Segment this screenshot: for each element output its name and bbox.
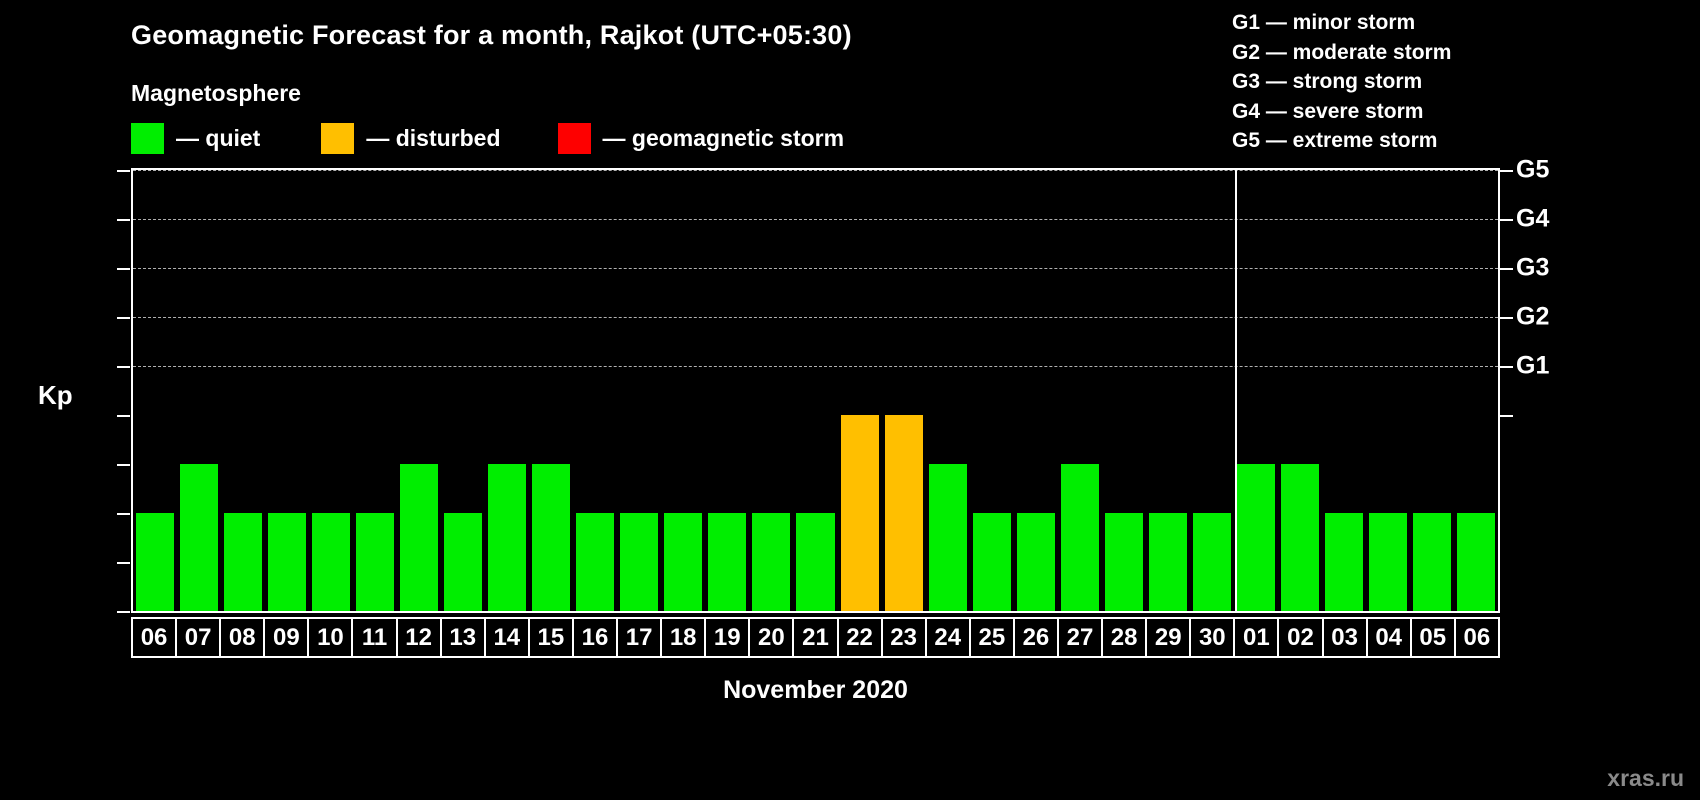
x-axis-date-label[interactable]: 26 (1015, 619, 1059, 656)
bar-cell[interactable] (793, 170, 837, 611)
bar[interactable] (1105, 513, 1143, 611)
y-axis-tick (117, 415, 130, 417)
bar-cell[interactable] (1278, 170, 1322, 611)
y-axis-tick (117, 611, 130, 613)
bar-cell[interactable] (1322, 170, 1366, 611)
bar-cell[interactable] (1014, 170, 1058, 611)
x-axis-date-label[interactable]: 01 (1235, 619, 1279, 656)
legend-label-disturbed: — disturbed (366, 125, 500, 152)
x-axis-date-label[interactable]: 08 (221, 619, 265, 656)
bar-cell[interactable] (1366, 170, 1410, 611)
bar[interactable] (576, 513, 614, 611)
x-axis-date-label[interactable]: 23 (883, 619, 927, 656)
bar[interactable] (180, 464, 218, 611)
bar[interactable] (973, 513, 1011, 611)
bar-cell[interactable] (397, 170, 441, 611)
legend: — quiet — disturbed — geomagnetic storm (131, 123, 844, 154)
bar-cell[interactable] (441, 170, 485, 611)
x-axis-date-row: 0607080910111213141516171819202122232425… (131, 617, 1500, 658)
g-scale-axis-tick (1500, 317, 1513, 319)
x-axis-date-label[interactable]: 12 (398, 619, 442, 656)
bar[interactable] (1237, 464, 1275, 611)
page-title: Geomagnetic Forecast for a month, Rajkot… (131, 20, 852, 51)
x-axis-date-label[interactable]: 04 (1368, 619, 1412, 656)
g-scale-axis-tick (1500, 170, 1513, 172)
x-axis-date-label[interactable]: 11 (353, 619, 397, 656)
bar[interactable] (841, 415, 879, 611)
g-scale-axis-tick (1500, 366, 1513, 368)
x-axis-date-label[interactable]: 13 (442, 619, 486, 656)
g-scale-row: G4 — severe storm (1232, 97, 1451, 127)
bar[interactable] (1061, 464, 1099, 611)
x-axis-date-label[interactable]: 03 (1324, 619, 1368, 656)
bar-cell[interactable] (485, 170, 529, 611)
x-axis-date-label[interactable]: 18 (662, 619, 706, 656)
x-axis-date-label[interactable]: 19 (706, 619, 750, 656)
y-axis-tick (117, 170, 130, 172)
bar[interactable] (1193, 513, 1231, 611)
x-axis-date-label[interactable]: 28 (1103, 619, 1147, 656)
bar-series (133, 170, 1498, 611)
bar[interactable] (268, 513, 306, 611)
bar[interactable] (1149, 513, 1187, 611)
g-scale-row: G1 — minor storm (1232, 8, 1451, 38)
bar[interactable] (796, 513, 834, 611)
bar[interactable] (1457, 513, 1495, 611)
y-axis-tick (117, 268, 130, 270)
y-axis-tick (117, 366, 130, 368)
month-divider-line (1235, 168, 1237, 613)
bar-cell[interactable] (529, 170, 573, 611)
legend-label-storm: — geomagnetic storm (603, 125, 845, 152)
x-axis-date-label[interactable]: 14 (486, 619, 530, 656)
bar-cell[interactable] (133, 170, 177, 611)
bar[interactable] (1413, 513, 1451, 611)
bar-cell[interactable] (661, 170, 705, 611)
x-axis-date-label[interactable]: 24 (927, 619, 971, 656)
legend-swatch-storm-icon (558, 123, 591, 154)
watermark: xras.ru (1607, 765, 1684, 792)
bar[interactable] (620, 513, 658, 611)
g-scale-axis-tick (1500, 219, 1513, 221)
bar[interactable] (136, 513, 174, 611)
x-axis-date-label[interactable]: 07 (177, 619, 221, 656)
g-scale-axis-tick (1500, 415, 1513, 417)
bar-cell[interactable] (1146, 170, 1190, 611)
legend-swatch-quiet-icon (131, 123, 164, 154)
x-axis-date-label[interactable]: 09 (265, 619, 309, 656)
g-scale-row: G2 — moderate storm (1232, 38, 1451, 68)
bar-cell[interactable] (1454, 170, 1498, 611)
bar-cell[interactable] (926, 170, 970, 611)
legend-item-storm: — geomagnetic storm (558, 123, 845, 154)
x-axis-date-label[interactable]: 16 (574, 619, 618, 656)
bar-cell[interactable] (970, 170, 1014, 611)
bar-cell[interactable] (838, 170, 882, 611)
x-axis-date-label[interactable]: 02 (1279, 619, 1323, 656)
bar[interactable] (488, 464, 526, 611)
bar[interactable] (708, 513, 746, 611)
bar[interactable] (1325, 513, 1363, 611)
x-axis-date-label[interactable]: 17 (618, 619, 662, 656)
x-axis-date-label[interactable]: 25 (971, 619, 1015, 656)
bar[interactable] (885, 415, 923, 611)
g-scale-axis-label: G3 (1516, 254, 1549, 283)
x-axis-date-label[interactable]: 05 (1412, 619, 1456, 656)
bar[interactable] (1017, 513, 1055, 611)
x-axis-title: November 2020 (131, 676, 1500, 705)
bar[interactable] (312, 513, 350, 611)
bar-cell[interactable] (265, 170, 309, 611)
bar[interactable] (1281, 464, 1319, 611)
legend-swatch-disturbed-icon (321, 123, 354, 154)
y-axis-tick (117, 317, 130, 319)
bar[interactable] (929, 464, 967, 611)
g-scale-axis-label: G1 (1516, 352, 1549, 381)
bar-cell[interactable] (617, 170, 661, 611)
bar[interactable] (532, 464, 570, 611)
bar-cell[interactable] (177, 170, 221, 611)
bar-cell[interactable] (221, 170, 265, 611)
x-axis-date-label[interactable]: 06 (1456, 619, 1498, 656)
bar-cell[interactable] (353, 170, 397, 611)
magnetosphere-label: Magnetosphere (131, 80, 301, 107)
x-axis-date-label[interactable]: 15 (530, 619, 574, 656)
g-scale-axis-tick (1500, 268, 1513, 270)
bar-cell[interactable] (1190, 170, 1234, 611)
legend-item-disturbed: — disturbed (321, 123, 500, 154)
g-scale-axis-label: G4 (1516, 205, 1549, 234)
x-axis-date-label[interactable]: 06 (133, 619, 177, 656)
g-scale-legend: G1 — minor storm G2 — moderate storm G3 … (1232, 8, 1451, 156)
x-axis-date-label[interactable]: 29 (1147, 619, 1191, 656)
bar[interactable] (356, 513, 394, 611)
bar[interactable] (444, 513, 482, 611)
bar[interactable] (752, 513, 790, 611)
bar-cell[interactable] (573, 170, 617, 611)
bar-cell[interactable] (1234, 170, 1278, 611)
y-axis-tick (117, 464, 130, 466)
y-axis-title: Kp (38, 380, 73, 411)
x-axis-date-label[interactable]: 22 (839, 619, 883, 656)
y-axis-tick (117, 219, 130, 221)
bar-cell[interactable] (1102, 170, 1146, 611)
x-axis-date-label[interactable]: 10 (309, 619, 353, 656)
bar-cell[interactable] (705, 170, 749, 611)
legend-label-quiet: — quiet (176, 125, 260, 152)
x-axis-date-label[interactable]: 30 (1191, 619, 1235, 656)
bar-cell[interactable] (1410, 170, 1454, 611)
bar[interactable] (400, 464, 438, 611)
x-axis-date-label[interactable]: 27 (1059, 619, 1103, 656)
x-axis-date-label[interactable]: 20 (750, 619, 794, 656)
bar-cell[interactable] (1058, 170, 1102, 611)
g-scale-axis-label: G5 (1516, 156, 1549, 185)
bar-cell[interactable] (749, 170, 793, 611)
g-scale-row: G3 — strong storm (1232, 67, 1451, 97)
y-axis-tick (117, 513, 130, 515)
g-scale-row: G5 — extreme storm (1232, 126, 1451, 156)
bar[interactable] (1369, 513, 1407, 611)
legend-item-quiet: — quiet (131, 123, 260, 154)
bar[interactable] (664, 513, 702, 611)
x-axis-date-label[interactable]: 21 (794, 619, 838, 656)
bar-cell[interactable] (882, 170, 926, 611)
bar-cell[interactable] (309, 170, 353, 611)
y-axis-tick (117, 562, 130, 564)
g-scale-axis-label: G2 (1516, 303, 1549, 332)
bar[interactable] (224, 513, 262, 611)
